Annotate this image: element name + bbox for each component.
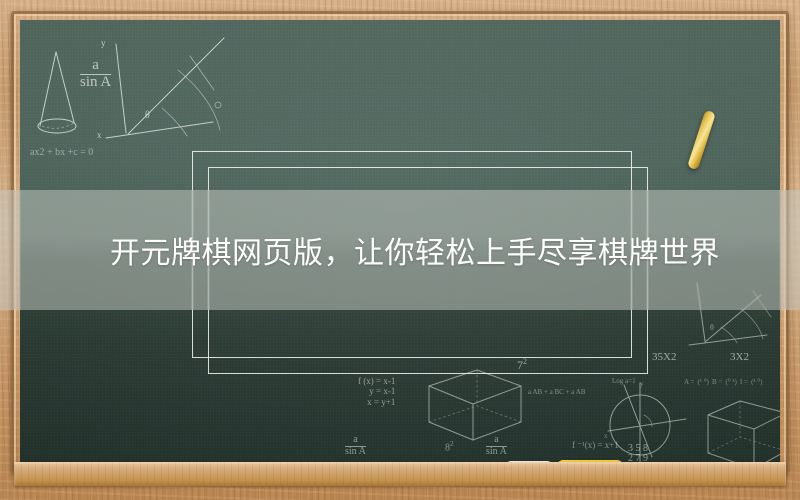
page-title: 开元牌棋网页版，让你轻松上手尽享棋牌世界 [0,190,800,310]
chalk-fraction-a-sina-center: a sin A [345,435,366,457]
yellow-chalk-floating [687,110,716,170]
chalk-tray [14,462,786,486]
chalk-function-lines-center: f (x) = x-1 y = x-1 x = y+1 [358,376,395,407]
chalk-drawing-circle-axes-right [600,375,780,464]
screenshot-root: a sin A y x θ ax2 + bx +c = 0 f (x) = x-… [0,0,800,500]
chalk-multiplication-35x2: 35X2 [652,351,676,364]
